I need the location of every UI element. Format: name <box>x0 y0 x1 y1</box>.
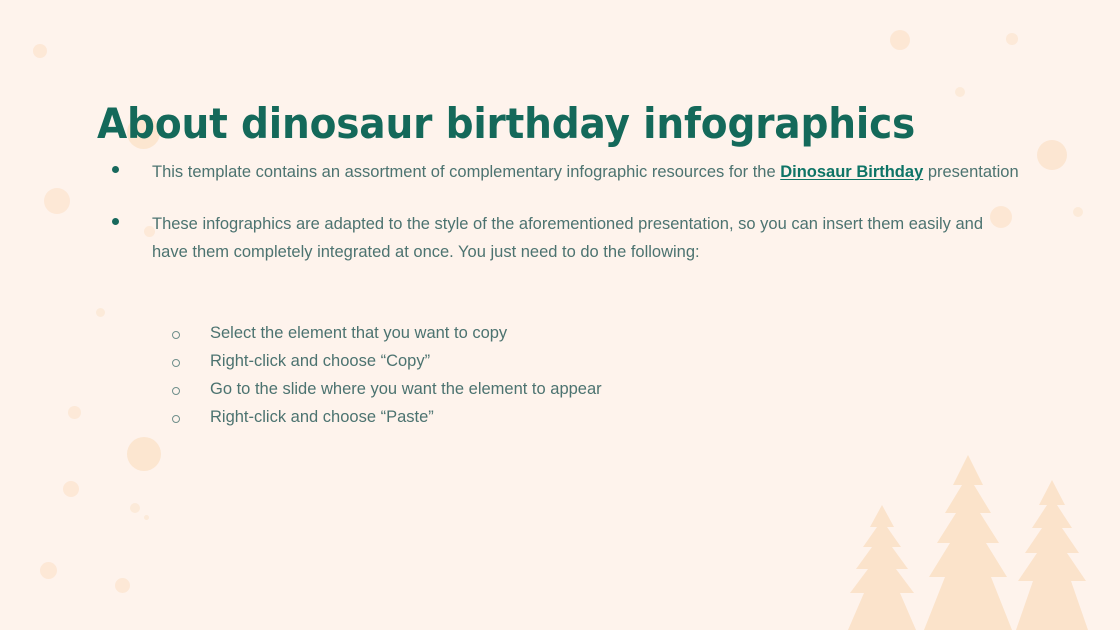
bullet-item-1: This template contains an assortment of … <box>112 158 1022 186</box>
sub-bullet-item-1-text: Select the element that you want to copy <box>210 322 932 345</box>
sub-bullet-list: Select the element that you want to copy… <box>172 322 932 434</box>
main-bullet-list: This template contains an assortment of … <box>112 158 1022 290</box>
bullet-item-1-text: This template contains an assortment of … <box>152 158 1022 186</box>
sub-bullet-item-1: Select the element that you want to copy <box>172 322 932 345</box>
filled-dot-icon <box>112 158 152 173</box>
hollow-ring-icon <box>172 378 210 395</box>
sub-bullet-item-4-text: Right-click and choose “Paste” <box>210 406 932 429</box>
slide-content: About dinosaur birthday infographics Thi… <box>0 0 1120 630</box>
sub-bullet-item-3: Go to the slide where you want the eleme… <box>172 378 932 401</box>
slide-canvas: About dinosaur birthday infographics Thi… <box>0 0 1120 630</box>
filled-dot-icon <box>112 210 152 225</box>
bullet-1-text-before-link: This template contains an assortment of … <box>152 163 780 181</box>
bullet-item-2-text: These infographics are adapted to the st… <box>152 210 1022 266</box>
page-title: About dinosaur birthday infographics <box>97 99 915 148</box>
sub-bullet-item-2: Right-click and choose “Copy” <box>172 350 932 373</box>
hollow-ring-icon <box>172 350 210 367</box>
bullet-1-text-after-link: presentation <box>923 163 1018 181</box>
sub-bullet-item-3-text: Go to the slide where you want the eleme… <box>210 378 932 401</box>
dinosaur-birthday-link[interactable]: Dinosaur Birthday <box>780 163 923 181</box>
bullet-item-2: These infographics are adapted to the st… <box>112 210 1022 266</box>
sub-bullet-item-4: Right-click and choose “Paste” <box>172 406 932 429</box>
hollow-ring-icon <box>172 406 210 423</box>
hollow-ring-icon <box>172 322 210 339</box>
sub-bullet-item-2-text: Right-click and choose “Copy” <box>210 350 932 373</box>
